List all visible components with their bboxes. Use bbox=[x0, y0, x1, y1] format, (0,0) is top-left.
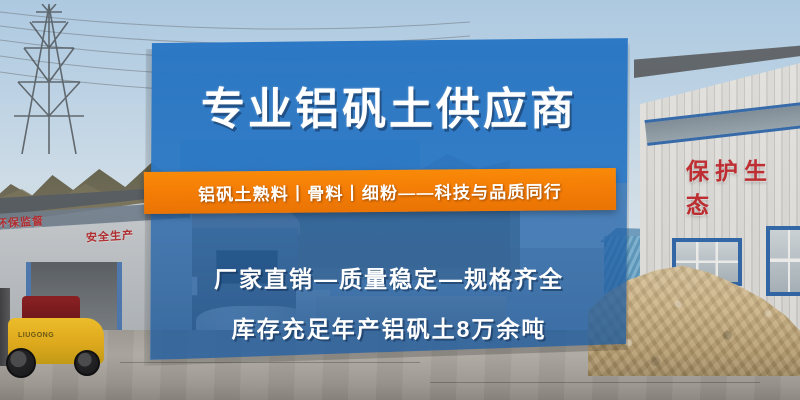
banner-image: 环保监督 安全生产 保护生态 LIUGONG bbox=[0, 0, 800, 400]
banner-content: 专业铝矾土供应商 铝矾土熟料丨骨料丨细粉——科技与品质同行 厂家直销—质量稳定—… bbox=[150, 38, 628, 360]
orange-ribbon-text: 铝矾土熟料丨骨料丨细粉——科技与品质同行 bbox=[198, 177, 562, 205]
banner-headline: 专业铝矾土供应商 bbox=[150, 88, 628, 132]
orange-ribbon: 铝矾土熟料丨骨料丨细粉——科技与品质同行 bbox=[144, 168, 616, 214]
banner-subline-2: 库存充足年产铝矾土8万余吨 bbox=[150, 310, 628, 344]
banner-subline-1: 厂家直销—质量稳定—规格齐全 bbox=[150, 260, 628, 294]
